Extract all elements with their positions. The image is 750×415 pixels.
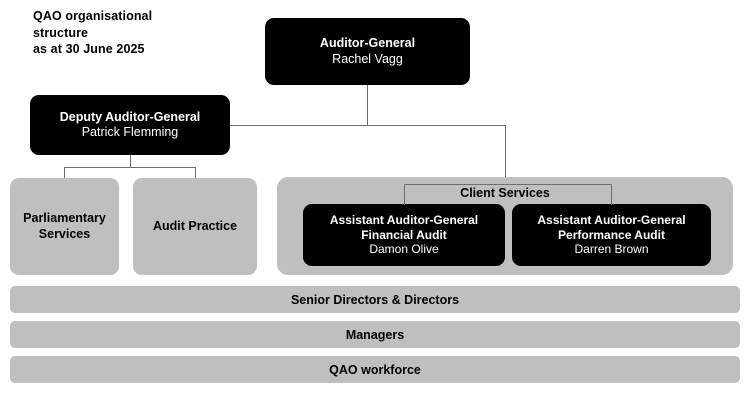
- page-title: QAO organisational structure as at 30 Ju…: [33, 8, 152, 58]
- node-audit-practice[interactable]: Audit Practice: [133, 178, 257, 275]
- client-services-label: Client Services: [277, 186, 733, 200]
- connector-bus-horizontal: [230, 125, 506, 126]
- node-assistant-auditor-general-performance-audit[interactable]: Assistant Auditor-General Performance Au…: [512, 204, 711, 266]
- parliamentary-services-label-line-1: Parliamentary: [23, 211, 106, 226]
- deputy-auditor-general-name: Patrick Flemming: [82, 125, 179, 140]
- audit-practice-label: Audit Practice: [153, 219, 237, 234]
- connector-performance-audit-down: [611, 184, 612, 205]
- bar-senior-directors[interactable]: Senior Directors & Directors: [10, 286, 740, 313]
- financial-audit-name: Damon Olive: [369, 242, 438, 257]
- node-auditor-general[interactable]: Auditor-General Rachel Vagg: [265, 18, 470, 85]
- node-assistant-auditor-general-financial-audit[interactable]: Assistant Auditor-General Financial Audi…: [303, 204, 505, 266]
- financial-audit-role-line-1: Assistant Auditor-General: [330, 213, 478, 228]
- org-chart: QAO organisational structure as at 30 Ju…: [0, 0, 750, 415]
- performance-audit-role-line-1: Assistant Auditor-General: [537, 213, 685, 228]
- connector-financial-audit-down: [404, 184, 405, 205]
- bar-qao-workforce[interactable]: QAO workforce: [10, 356, 740, 383]
- connector-client-services-horizontal: [404, 184, 612, 185]
- page-title-line-3: as at 30 June 2025: [33, 41, 152, 58]
- bar-managers[interactable]: Managers: [10, 321, 740, 348]
- financial-audit-role-line-2: Financial Audit: [361, 228, 447, 243]
- performance-audit-name: Darren Brown: [574, 242, 648, 257]
- deputy-auditor-general-role: Deputy Auditor-General: [60, 110, 201, 125]
- auditor-general-name: Rachel Vagg: [332, 52, 403, 67]
- node-parliamentary-services[interactable]: Parliamentary Services: [10, 178, 119, 275]
- page-title-line-2: structure: [33, 25, 152, 42]
- connector-deputy-horizontal: [64, 167, 196, 168]
- node-deputy-auditor-general[interactable]: Deputy Auditor-General Patrick Flemming: [30, 95, 230, 155]
- page-title-line-1: QAO organisational: [33, 8, 152, 25]
- parliamentary-services-label-line-2: Services: [39, 227, 90, 242]
- connector-ag-down: [367, 85, 368, 126]
- auditor-general-role: Auditor-General: [320, 36, 415, 51]
- performance-audit-role-line-2: Performance Audit: [558, 228, 665, 243]
- connector-client-services-down: [505, 125, 506, 178]
